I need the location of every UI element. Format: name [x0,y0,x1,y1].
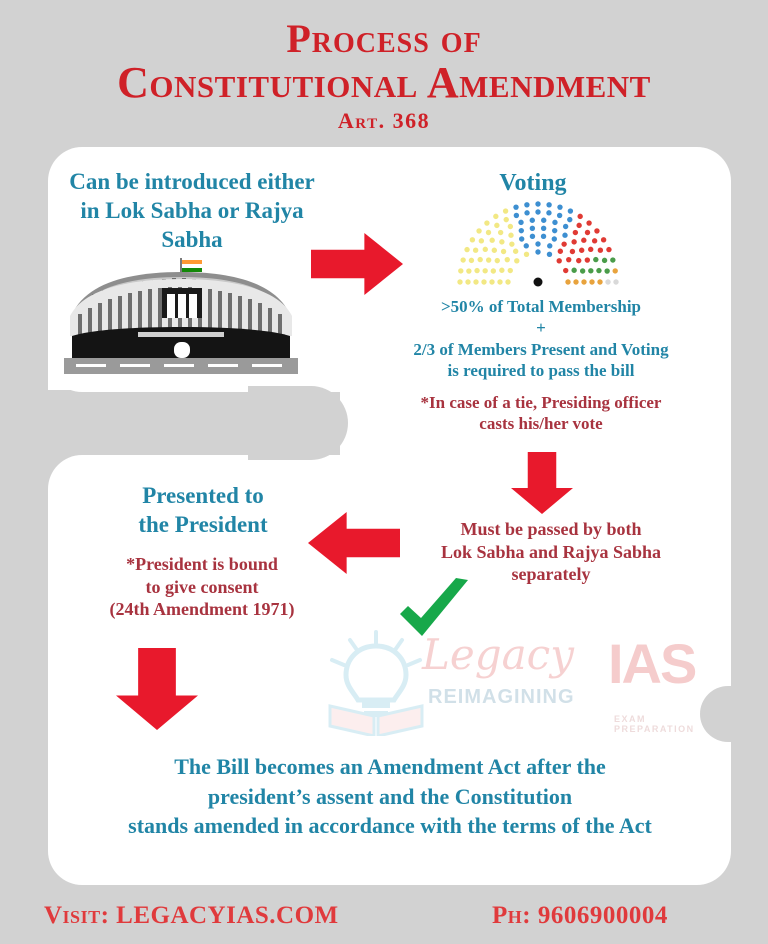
parliament-building-icon [62,258,300,378]
infographic-page: Process of Constitutional Amendment Art.… [0,0,768,944]
step-introduction-text: Can be introduced either in Lok Sabha or… [58,168,326,254]
title-line-2: Constitutional Amendment [0,60,768,106]
parliament-seat-chart [452,196,624,288]
panel-notch-right [700,686,768,742]
speaker-seat-dot [534,278,543,287]
voting-heading: Voting [408,168,658,198]
president-note-line-1: *President is bound [62,553,342,576]
voting-rule-line-1: >50% of Total Membership [368,296,714,317]
both-houses-line-1: Must be passed by both [406,518,696,541]
voting-tie-line-1: *In case of a tie, Presiding officer [368,392,714,413]
voting-rules-text: >50% of Total Membership + 2/3 of Member… [368,296,714,381]
green-check-icon [396,578,472,640]
panel-notch-left [248,386,348,460]
footer-website[interactable]: Visit: LEGACYIAS.COM [44,902,339,930]
president-note: *President is bound to give consent (24t… [62,553,342,621]
president-heading: Presented to the President [78,482,328,540]
page-title: Process of Constitutional Amendment Art.… [0,18,768,134]
footer-phone[interactable]: Ph: 9606900004 [492,902,668,930]
voting-rule-plus: + [368,317,714,338]
president-heading-line-1: Presented to [78,482,328,511]
voting-rule-line-2: 2/3 of Members Present and Voting [368,339,714,360]
title-line-1: Process of [0,18,768,60]
voting-rule-line-3: is required to pass the bill [368,360,714,381]
both-houses-text: Must be passed by both Lok Sabha and Raj… [406,518,696,586]
voting-tie-line-2: casts his/her vote [368,413,714,434]
president-note-line-2: to give consent [62,576,342,599]
title-article: Art. 368 [0,108,768,134]
president-note-line-3: (24th Amendment 1971) [62,598,342,621]
voting-tie-note: *In case of a tie, Presiding officer cas… [368,392,714,435]
final-outcome-text: The Bill becomes an Amendment Act after … [54,752,726,841]
president-heading-line-2: the President [78,511,328,540]
final-line-2: president’s assent and the Constitution [54,782,726,812]
final-line-3: stands amended in accordance with the te… [54,811,726,841]
both-houses-line-2: Lok Sabha and Rajya Sabha [406,541,696,564]
final-line-1: The Bill becomes an Amendment Act after … [54,752,726,782]
